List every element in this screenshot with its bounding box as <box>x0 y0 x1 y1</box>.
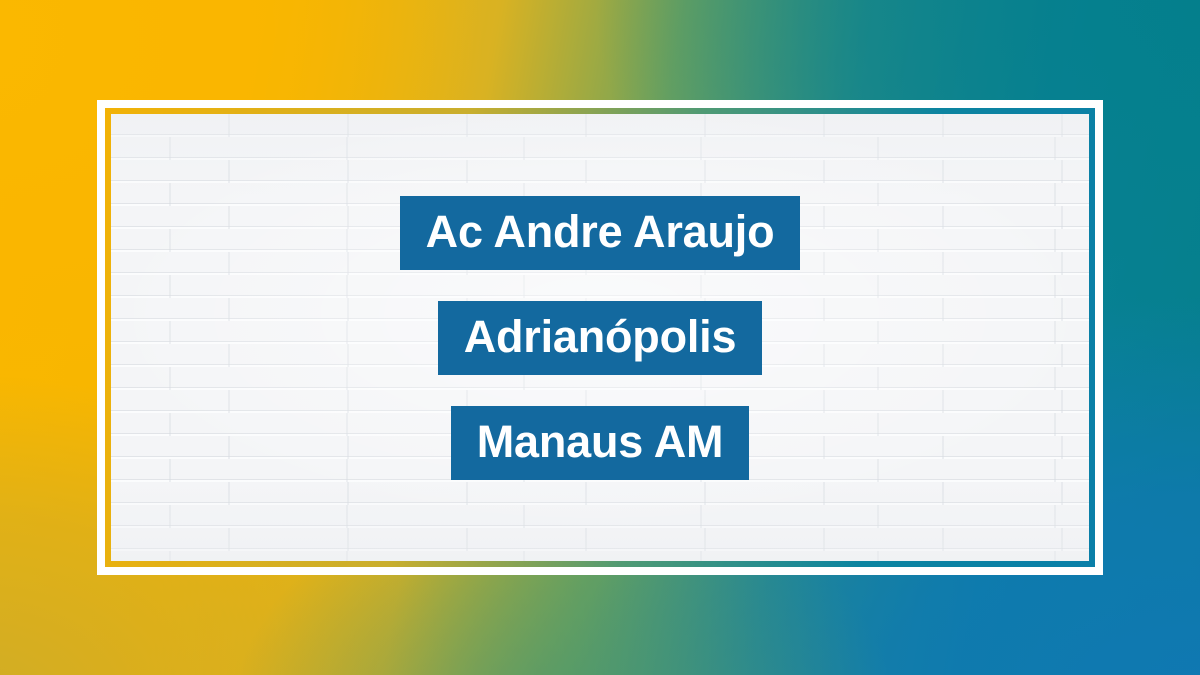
label-city-state: Manaus AM <box>451 406 750 480</box>
label-street: Ac Andre Araujo <box>400 196 801 270</box>
brick-wall-panel: Ac Andre Araujo Adrianópolis Manaus AM <box>111 114 1089 561</box>
frame-inner-gap: Ac Andre Araujo Adrianópolis Manaus AM <box>105 108 1095 567</box>
poster-canvas: Ac Andre Araujo Adrianópolis Manaus AM <box>0 0 1200 675</box>
white-frame-border: Ac Andre Araujo Adrianópolis Manaus AM <box>97 100 1103 575</box>
label-stack: Ac Andre Araujo Adrianópolis Manaus AM <box>111 114 1089 561</box>
label-neighborhood: Adrianópolis <box>438 301 763 375</box>
